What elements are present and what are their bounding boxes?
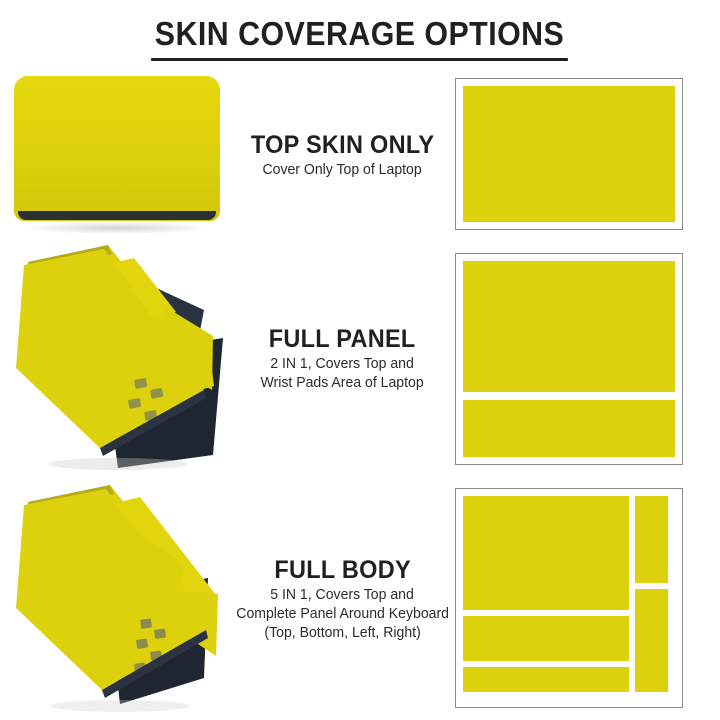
option-row-top-skin-only: TOP SKIN ONLY Cover Only Top of Laptop [0, 70, 720, 240]
closed-laptop-illustration [14, 76, 220, 221]
diagram-frame [455, 78, 683, 230]
open-laptop-svg [8, 478, 233, 720]
diagram-piece-wrist-pad-panel [463, 400, 675, 457]
diagram-piece-top-lid-panel [463, 496, 629, 610]
option-title: FULL BODY [274, 556, 411, 584]
coverage-diagram-full-panel [450, 240, 690, 478]
option-text-full-panel: FULL PANEL 2 IN 1, Covers Top and Wrist … [235, 240, 450, 478]
option-subtitle-line-2: Complete Panel Around Keyboard [236, 605, 449, 624]
coverage-diagram-full-body [450, 478, 690, 720]
diagram-piece-right-upper-strip [635, 496, 668, 583]
laptop-photo-full-panel [0, 240, 235, 478]
laptop-drop-shadow [24, 222, 210, 234]
option-title: TOP SKIN ONLY [251, 131, 434, 159]
open-laptop-illustration-full-body [8, 478, 233, 720]
diagram-piece-keyboard-top-strip [463, 616, 629, 661]
page-title: SKIN COVERAGE OPTIONS [152, 14, 569, 61]
laptop-photo-top-skin-only [0, 70, 235, 240]
option-subtitle-line-1: Cover Only Top of Laptop [263, 161, 422, 180]
diagram-piece-right-lower-strip [635, 589, 668, 692]
laptop-lid-face [14, 76, 220, 221]
option-row-full-panel: FULL PANEL 2 IN 1, Covers Top and Wrist … [0, 240, 720, 478]
laptop-shadow [48, 458, 188, 470]
option-text-full-body: FULL BODY 5 IN 1, Covers Top and Complet… [235, 478, 450, 720]
diagram-frame [455, 253, 683, 465]
diagram-piece-keyboard-bottom-strip [463, 667, 629, 692]
laptop-shadow [50, 700, 190, 712]
option-subtitle-line-1: 5 IN 1, Covers Top and [271, 586, 415, 605]
option-subtitle-line-3: (Top, Bottom, Left, Right) [264, 624, 420, 643]
diagram-frame [455, 488, 683, 708]
open-laptop-svg [8, 240, 233, 478]
option-subtitle-line-2: Wrist Pads Area of Laptop [261, 374, 424, 393]
laptop-base-edge [18, 211, 216, 220]
laptop-photo-full-body [0, 478, 235, 720]
page-title-container: SKIN COVERAGE OPTIONS [0, 14, 720, 61]
option-text-top-skin-only: TOP SKIN ONLY Cover Only Top of Laptop [235, 70, 450, 240]
option-title: FULL PANEL [269, 325, 416, 353]
diagram-piece-top-lid-panel [463, 261, 675, 392]
coverage-diagram-top-skin-only [450, 70, 690, 240]
option-subtitle-line-1: 2 IN 1, Covers Top and [271, 355, 415, 374]
option-row-full-body: FULL BODY 5 IN 1, Covers Top and Complet… [0, 478, 720, 720]
open-laptop-illustration-full-panel [8, 240, 233, 478]
diagram-piece-top-lid-panel [463, 86, 675, 222]
